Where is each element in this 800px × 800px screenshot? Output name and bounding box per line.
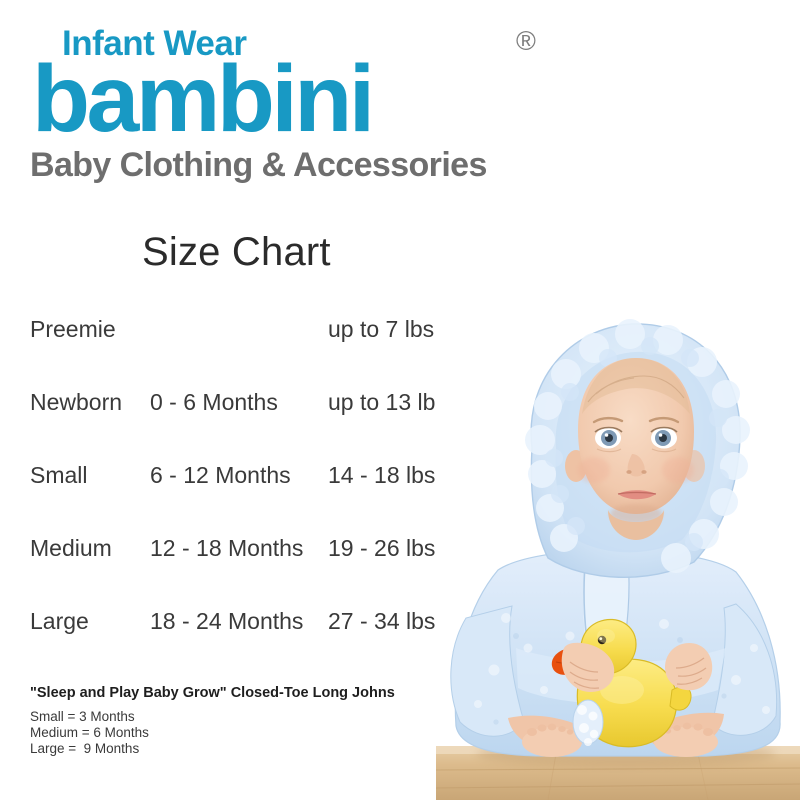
baby-photo-illustration [436, 318, 800, 800]
cell-weight: 27 - 34 lbs. [328, 610, 442, 633]
footnote-line: Small = 3 Months [30, 709, 470, 725]
cell-age: 0 - 6 Months [150, 391, 278, 414]
cell-weight: 14 - 18 lbs. [328, 464, 442, 487]
brand-wordmark: bambini [32, 52, 372, 147]
brand-logo: Infant Wear bambini ® Baby Clothing & Ac… [0, 0, 560, 195]
footnote-block: "Sleep and Play Baby Grow" Closed-Toe Lo… [30, 686, 470, 757]
footnote-line: Large = 9 Months [30, 741, 470, 757]
cell-age: 12 - 18 Months [150, 537, 303, 560]
table-row: Newborn 0 - 6 Months up to 13 lbs. [0, 391, 500, 464]
brand-tagline: Baby Clothing & Accessories [30, 148, 487, 182]
table-row: Large 18 - 24 Months 27 - 34 lbs. [0, 610, 500, 683]
cell-weight: 19 - 26 lbs. [328, 537, 442, 560]
cell-size: Medium [30, 537, 112, 560]
brand-wordmark-wrap: bambini [32, 52, 372, 147]
footnote-lines: Small = 3 Months Medium = 6 Months Large… [30, 709, 470, 757]
cell-size: Large [30, 610, 89, 633]
cell-size: Newborn [30, 391, 122, 414]
cell-age: 18 - 24 Months [150, 610, 303, 633]
cell-size: Preemie [30, 318, 116, 341]
baby-photo [436, 318, 800, 800]
cell-size: Small [30, 464, 88, 487]
cell-age: 6 - 12 Months [150, 464, 291, 487]
footnote-heading: "Sleep and Play Baby Grow" Closed-Toe Lo… [30, 686, 470, 701]
page-title: Size Chart [142, 232, 331, 272]
table-row: Medium 12 - 18 Months 19 - 26 lbs. [0, 537, 500, 610]
size-chart-page: Infant Wear bambini ® Baby Clothing & Ac… [0, 0, 800, 800]
cell-weight: up to 13 lbs. [328, 391, 453, 414]
table-row: Preemie up to 7 lbs. [0, 318, 500, 391]
size-chart-table: Preemie up to 7 lbs. Newborn 0 - 6 Month… [0, 318, 500, 683]
footnote-line: Medium = 6 Months [30, 725, 470, 741]
table-row: Small 6 - 12 Months 14 - 18 lbs. [0, 464, 500, 537]
registered-trademark-icon: ® [516, 28, 536, 55]
cell-weight: up to 7 lbs. [328, 318, 441, 341]
